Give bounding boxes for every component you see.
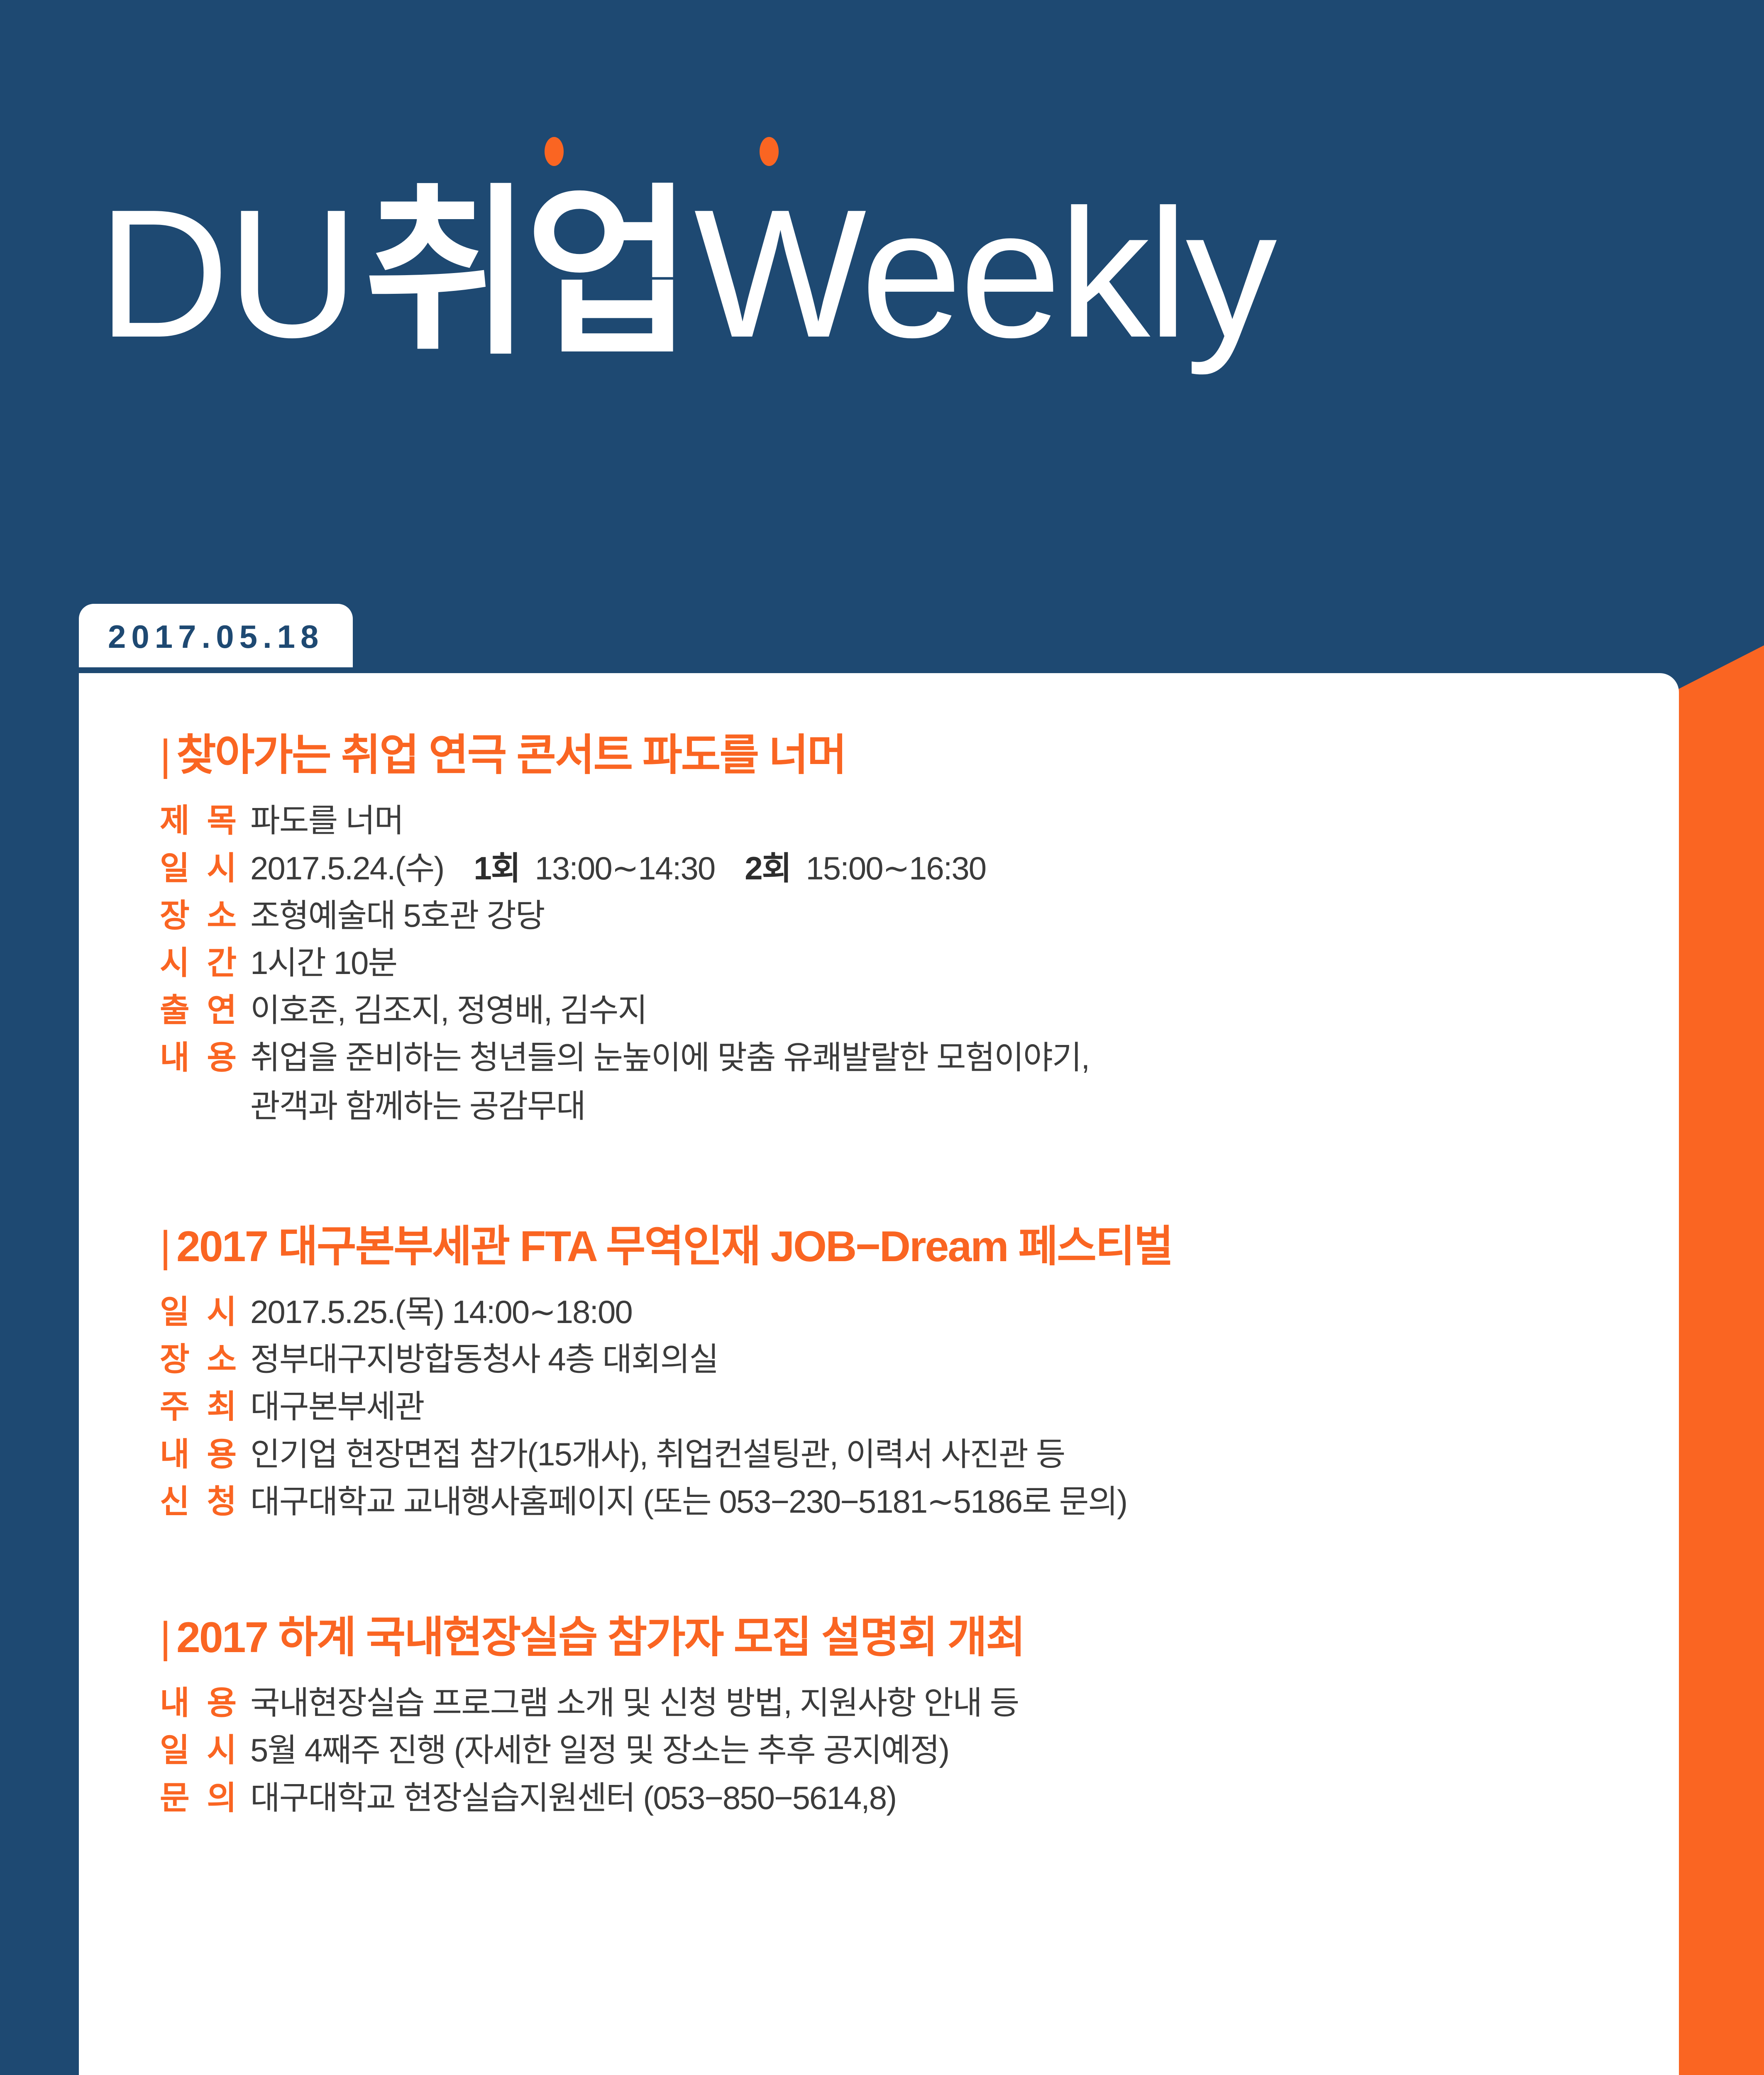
- row-value: 대구대학교 현장실습지원센터 (053−850−5614,8): [250, 1778, 896, 1818]
- detail-row: 신 청 대구대학교 교내행사홈페이지 (또는 053−230−5181∼5186…: [160, 1482, 1679, 1521]
- detail-row: 제 목 파도를 너머: [160, 801, 1679, 840]
- row-label: 내 용: [160, 1683, 250, 1723]
- row-value: 대구본부세관: [250, 1387, 424, 1426]
- row-value: 인기업 현장면접 참가(15개사), 취업컨설팅관, 이력서 사진관 등: [250, 1435, 1065, 1474]
- section-domestic-internship: |2017 하계 국내현장실습 참가자 모집 설명회 개최 내 용 국내현장실습…: [160, 1614, 1679, 1818]
- heading-bar-icon-1: |: [160, 731, 176, 779]
- masthead-suffix: Weekly: [694, 172, 1275, 376]
- masthead-korean: 취업: [357, 172, 694, 376]
- masthead-prefix: DU: [98, 172, 357, 376]
- masthead-title: DU취업Weekly: [98, 183, 1275, 365]
- detail-row: 시 간 1시간 10분: [160, 943, 1679, 983]
- section-2-heading: |2017 대구본부세관 FTA 무역인재 JOB−Dream 페스티벌: [160, 1223, 1679, 1271]
- row-value: 파도를 너머: [250, 801, 403, 840]
- detail-row: 내 용 국내현장실습 프로그램 소개 및 신청 방법, 지원사항 안내 등: [160, 1683, 1679, 1723]
- row-label: 주 최: [160, 1387, 250, 1426]
- row-label: 내 용: [160, 1435, 250, 1474]
- row-value: 취업을 준비하는 청년들의 눈높이에 맞춤 유쾌발랄한 모험이야기,관객과 함께…: [250, 1038, 1089, 1126]
- section-1-heading: |찾아가는 취업 연극 콘서트 파도를 너머: [160, 731, 1679, 779]
- row-value-line-1: 취업을 준비하는 청년들의 눈높이에 맞춤 유쾌발랄한 모험이야기,: [250, 1039, 1089, 1076]
- detail-row: 출 연 이호준, 김조지, 정영배, 김수지: [160, 991, 1679, 1030]
- issue-date-tab: 2017.05.18: [79, 604, 353, 667]
- row-value: 조형예술대 5호관 강당: [250, 896, 545, 935]
- row-value: 1시간 10분: [250, 943, 397, 983]
- row-value: 대구대학교 교내행사홈페이지 (또는 053−230−5181∼5186로 문의…: [250, 1482, 1127, 1521]
- content-card: |찾아가는 취업 연극 콘서트 파도를 너머 제 목 파도를 너머 일 시 20…: [79, 673, 1679, 2075]
- row-label: 일 시: [160, 849, 250, 888]
- section-3-heading-normal-pre: 2017: [176, 1614, 278, 1662]
- row-value-line-2: 관객과 함께하는 공감무대: [250, 1086, 1089, 1126]
- row-label: 출 연: [160, 991, 250, 1030]
- section-1-heading-bold: 파도를 너머: [643, 731, 845, 779]
- row-label: 제 목: [160, 801, 250, 840]
- heading-bar-icon-3: |: [160, 1614, 176, 1662]
- title-dots-decoration: [535, 137, 784, 174]
- section-job-dream-festival: |2017 대구본부세관 FTA 무역인재 JOB−Dream 페스티벌 일 시…: [160, 1223, 1679, 1521]
- row-label: 내 용: [160, 1038, 250, 1077]
- detail-row: 내 용 인기업 현장면접 참가(15개사), 취업컨설팅관, 이력서 사진관 등: [160, 1435, 1679, 1474]
- session-1-badge: 1회: [474, 850, 520, 886]
- section-3-heading: |2017 하계 국내현장실습 참가자 모집 설명회 개최: [160, 1614, 1679, 1662]
- row-value: 2017.5.24.(수)1회13:00∼14:302회15:00∼16:30: [250, 849, 986, 888]
- detail-row: 장 소 조형예술대 5호관 강당: [160, 896, 1679, 935]
- row-label: 시 간: [160, 943, 250, 983]
- row-value: 5월 4째주 진행 (자세한 일정 및 장소는 추후 공지예정): [250, 1731, 949, 1770]
- row-label: 신 청: [160, 1482, 250, 1521]
- section-1-heading-normal: 찾아가는 취업 연극 콘서트: [176, 731, 643, 779]
- session-2-badge: 2회: [745, 850, 791, 886]
- detail-row: 내 용 취업을 준비하는 청년들의 눈높이에 맞춤 유쾌발랄한 모험이야기,관객…: [160, 1038, 1679, 1126]
- row-label: 일 시: [160, 1731, 250, 1770]
- row-value: 이호준, 김조지, 정영배, 김수지: [250, 991, 647, 1030]
- orange-dot-icon-right: [760, 137, 779, 166]
- row-value: 2017.5.25.(목) 14:00∼18:00: [250, 1292, 632, 1332]
- detail-row: 일 시 5월 4째주 진행 (자세한 일정 및 장소는 추후 공지예정): [160, 1731, 1679, 1770]
- section-3-heading-normal-post: 참가자 모집 설명회 개최: [597, 1614, 1024, 1662]
- row-label: 문 의: [160, 1778, 250, 1818]
- heading-bar-icon-2: |: [160, 1223, 176, 1271]
- detail-row: 장 소 정부대구지방합동청사 4층 대회의실: [160, 1340, 1679, 1379]
- detail-row: 일 시 2017.5.24.(수)1회13:00∼14:302회15:00∼16…: [160, 849, 1679, 888]
- row-label: 일 시: [160, 1292, 250, 1332]
- schedule-date: 2017.5.24.(수): [250, 850, 444, 886]
- row-label: 장 소: [160, 896, 250, 935]
- detail-row: 문 의 대구대학교 현장실습지원센터 (053−850−5614,8): [160, 1778, 1679, 1818]
- session-2-time: 15:00∼16:30: [806, 850, 986, 886]
- section-theatre-concert: |찾아가는 취업 연극 콘서트 파도를 너머 제 목 파도를 너머 일 시 20…: [160, 731, 1679, 1126]
- row-label: 장 소: [160, 1340, 250, 1379]
- detail-row: 주 최 대구본부세관: [160, 1387, 1679, 1426]
- section-3-heading-bold: 하계 국내현장실습: [278, 1614, 596, 1662]
- section-2-heading-normal: 2017 대구본부세관 FTA 무역인재: [176, 1223, 770, 1271]
- orange-dot-icon-left: [545, 137, 564, 166]
- section-2-heading-bold: JOB−Dream 페스티벌: [770, 1223, 1172, 1271]
- detail-row: 일 시 2017.5.25.(목) 14:00∼18:00: [160, 1292, 1679, 1332]
- session-1-time: 13:00∼14:30: [535, 850, 715, 886]
- poster-header: DU취업Weekly: [0, 0, 1764, 562]
- row-value: 국내현장실습 프로그램 소개 및 신청 방법, 지원사항 안내 등: [250, 1683, 1019, 1723]
- row-value: 정부대구지방합동청사 4층 대회의실: [250, 1340, 718, 1379]
